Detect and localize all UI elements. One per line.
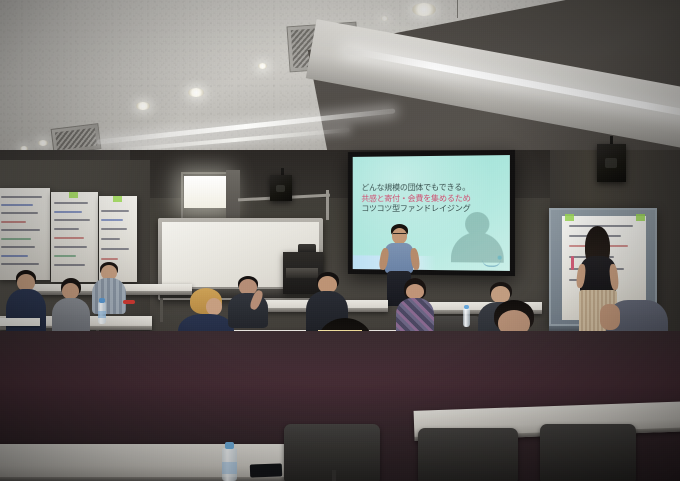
arm	[600, 304, 620, 330]
wall-speaker-right	[597, 144, 626, 182]
slide-line-1: どんな規模の団体でもできる。	[361, 183, 500, 194]
bottle-label	[98, 311, 106, 318]
water-bottle-1	[98, 302, 106, 324]
whiteboard-support-post	[326, 190, 329, 220]
flipchart-sheet-1	[0, 188, 50, 280]
projection-screen: どんな規模の団体でもできる。 共感と寄付・会費を集めるため コツコツ型ファンドレ…	[348, 150, 515, 276]
ceiling-sensor	[381, 16, 388, 21]
tape-green-4	[636, 214, 645, 221]
slide-text-block: どんな規模の団体でもできる。 共感と寄付・会費を集めるため コツコツ型ファンドレ…	[361, 183, 500, 215]
downlight-5	[38, 140, 48, 146]
presenter-torso	[385, 243, 413, 273]
downlight-4	[258, 63, 267, 69]
flipchart-sheet-2	[51, 192, 98, 282]
tape-green-1	[69, 192, 78, 198]
marker-pink	[571, 256, 574, 270]
chair-foreground-right-1[interactable]	[418, 428, 518, 481]
water-bottle-foreground	[222, 448, 237, 481]
chair-foreground-right-2[interactable]	[540, 424, 636, 481]
attendee-gray-tee	[52, 278, 90, 336]
water-bottle-5	[463, 308, 470, 327]
bottle-cap	[225, 442, 234, 449]
tape-green-2	[113, 196, 122, 202]
seminar-room-photo: どんな規模の団体でもできる。 共感と寄付・会費を集めるため コツコツ型ファンドレ…	[0, 0, 680, 481]
whiteboard-leg-left	[160, 298, 163, 322]
head	[62, 283, 79, 299]
downlight-3	[136, 102, 150, 110]
backlit-window	[184, 176, 226, 208]
smartphone-foreground[interactable]	[250, 463, 282, 477]
attendee-dark-tee	[228, 276, 268, 328]
organization-logo	[482, 255, 502, 266]
head	[206, 298, 222, 315]
pen-4-red	[123, 300, 135, 304]
slide-line-3: コツコツ型ファンドレイジング	[361, 204, 500, 215]
presentation-slide: どんな規模の団体でもできる。 共感と寄付・会費を集めるため コツコツ型ファンドレ…	[353, 155, 510, 271]
chair-post-1	[332, 470, 336, 481]
ceiling-hanger-wire	[457, 0, 458, 18]
downlight-2	[188, 88, 204, 97]
tape-green-3	[565, 214, 574, 221]
presenter-glasses	[393, 233, 406, 237]
downlight-1	[412, 3, 436, 16]
wall-speaker-left	[270, 175, 292, 201]
bottle-cap	[464, 305, 469, 309]
torso	[6, 289, 46, 336]
bottle-label	[222, 462, 237, 474]
bottle-cap	[99, 298, 105, 303]
head	[406, 284, 424, 299]
slide-person-silhouette	[451, 212, 504, 261]
slide-line-2: 共感と寄付・会費を集めるため	[361, 193, 500, 204]
attendee-navy-shirt	[6, 270, 46, 336]
handout-paper-2	[0, 318, 40, 326]
